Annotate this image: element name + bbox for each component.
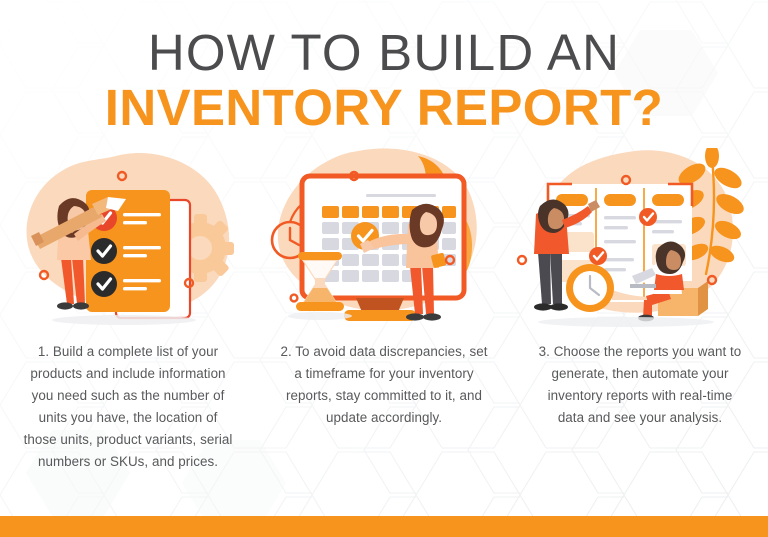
step-text-2: 2. To avoid data discrepancies, set a ti… xyxy=(277,341,491,429)
page-title-line1: HOW TO BUILD AN xyxy=(0,26,768,80)
infographic-canvas: HOW TO BUILD AN INVENTORY REPORT? xyxy=(0,0,768,537)
steps-row: 1. Build a complete list of your product… xyxy=(0,148,768,473)
header: HOW TO BUILD AN INVENTORY REPORT? xyxy=(0,26,768,136)
page-title-line2: INVENTORY REPORT? xyxy=(0,80,768,136)
step-text-3: 3. Choose the reports you want to genera… xyxy=(533,341,747,429)
illustration-kanban-board-clock-people xyxy=(516,148,764,333)
step-column-1: 1. Build a complete list of your product… xyxy=(0,148,256,473)
step-column-2: 2. To avoid data discrepancies, set a ti… xyxy=(256,148,512,473)
illustration-calendar-monitor-hourglass xyxy=(260,148,508,333)
board-check-badge-2 xyxy=(589,247,607,265)
board-column-headers xyxy=(556,194,684,206)
illustration-checklist-person-telescope xyxy=(4,148,252,333)
step-column-3: 3. Choose the reports you want to genera… xyxy=(512,148,768,473)
step-text-1: 1. Build a complete list of your product… xyxy=(21,341,235,473)
board-check-badge-1 xyxy=(639,208,657,226)
bottom-orange-bar xyxy=(0,516,768,537)
clock-icon xyxy=(566,264,614,312)
